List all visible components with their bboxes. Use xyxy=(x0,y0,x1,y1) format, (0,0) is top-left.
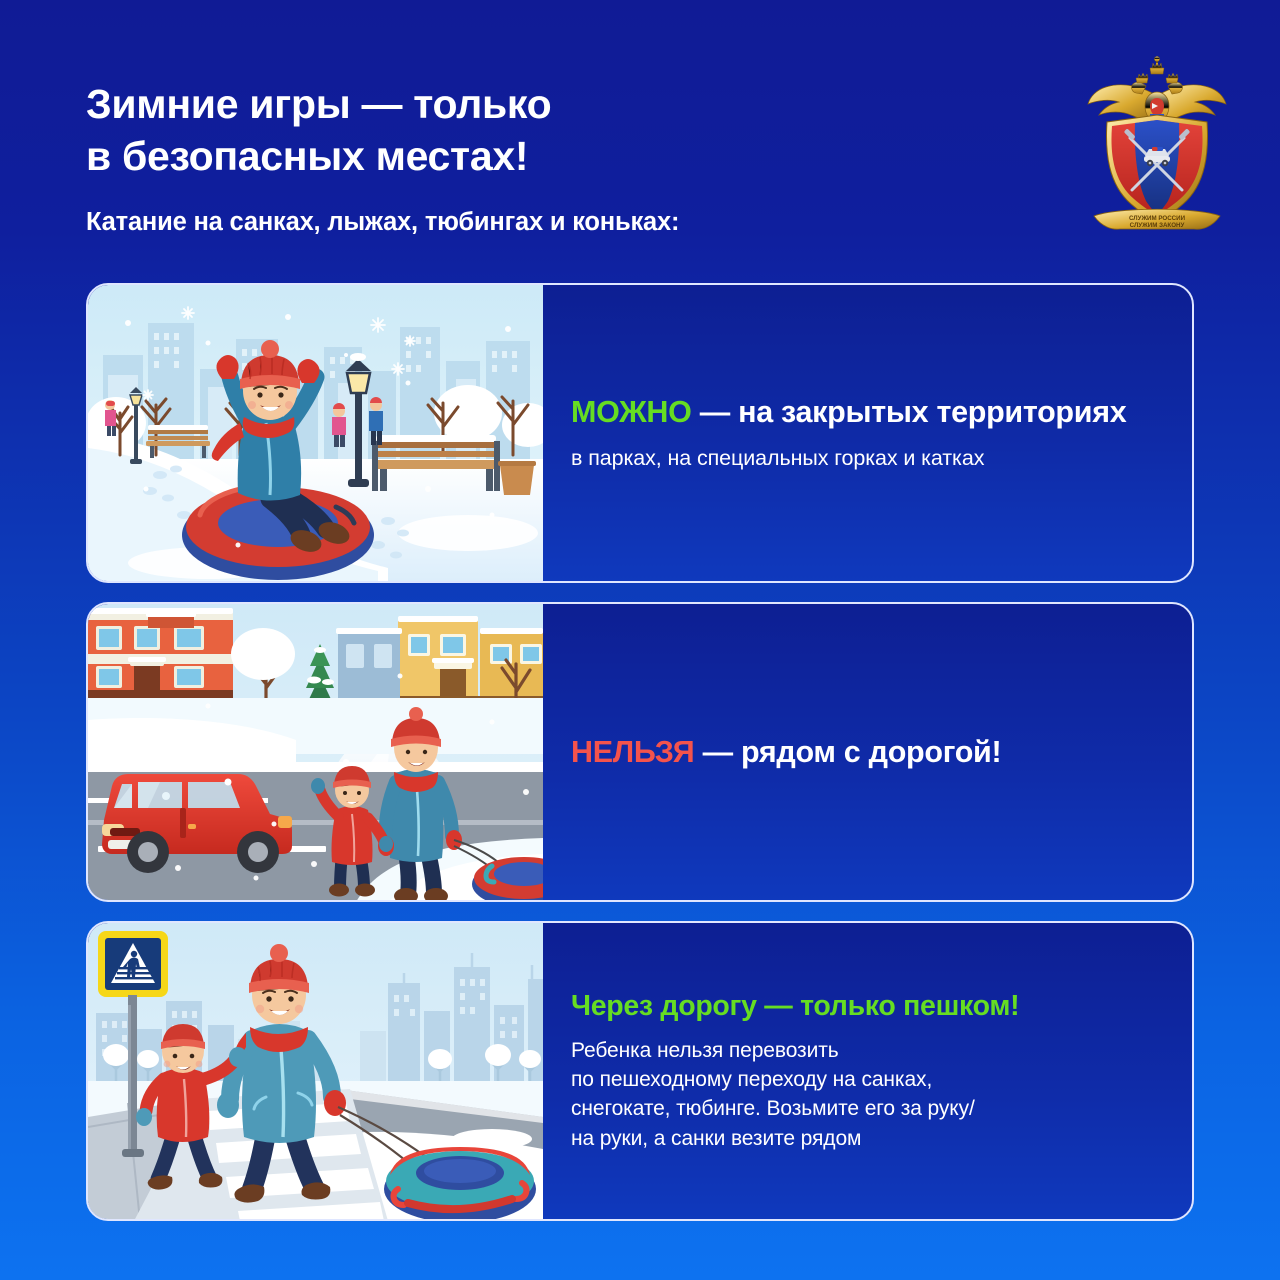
heading-rest: — рядом с дорогой! xyxy=(694,735,1001,769)
keyword-forbidden: НЕЛЬЗЯ xyxy=(571,735,694,769)
motto-line-2: СЛУЖИМ ЗАКОНУ xyxy=(1130,222,1185,229)
illustration-child-on-tube-in-park xyxy=(88,285,543,581)
gibdd-emblem: СЛУЖИМ РОССИИ СЛУЖИМ ЗАКОНУ xyxy=(1072,52,1242,237)
card-subtext: Ребенка нельзя перевозить по пешеходному… xyxy=(571,1036,1166,1153)
card-heading: МОЖНО — на закрытых территориях xyxy=(571,393,1166,431)
card-subtext: в парках, на специальных горках и катках xyxy=(571,444,1166,473)
card-heading: НЕЛЬЗЯ — рядом с дорогой! xyxy=(571,733,1166,771)
card-forbidden: НЕЛЬЗЯ — рядом с дорогой! xyxy=(86,602,1194,902)
trash-bin xyxy=(498,461,536,495)
infographic-page: Зимние игры — только в безопасных местах… xyxy=(0,0,1280,1280)
emblem-shield xyxy=(1106,115,1207,221)
page-title: Зимние игры — только в безопасных местах… xyxy=(86,78,1086,182)
building xyxy=(398,616,543,704)
pedestrian-crossing-sign-icon xyxy=(98,931,168,1005)
background-child xyxy=(369,397,383,445)
card-allowed: МОЖНО — на закрытых территориях в парках… xyxy=(86,283,1194,583)
card-text-allowed: МОЖНО — на закрытых территориях в парках… xyxy=(543,285,1192,581)
keyword-allowed: МОЖНО xyxy=(571,395,692,429)
card-text-crosswalk: Через дорогу — только пешком! Ребенка не… xyxy=(543,923,1192,1219)
illustration-parent-child-near-road xyxy=(88,604,543,900)
heading-rest: — на закрытых территориях xyxy=(692,395,1127,429)
page-subtitle: Катание на санках, лыжах, тюбингах и кон… xyxy=(86,208,1086,237)
background-child xyxy=(332,403,346,447)
cards-list: МОЖНО — на закрытых территориях в парках… xyxy=(86,283,1194,1221)
illustration-parent-child-crosswalk xyxy=(88,923,543,1219)
card-crosswalk: Через дорогу — только пешком! Ребенка не… xyxy=(86,921,1194,1221)
motto-line-1: СЛУЖИМ РОССИИ xyxy=(1129,215,1186,222)
header: Зимние игры — только в безопасных местах… xyxy=(86,78,1086,237)
card-text-forbidden: НЕЛЬЗЯ — рядом с дорогой! xyxy=(543,604,1192,900)
motto-ribbon: СЛУЖИМ РОССИИ СЛУЖИМ ЗАКОНУ xyxy=(1094,209,1220,229)
card-heading: Через дорогу — только пешком! xyxy=(571,989,1166,1025)
